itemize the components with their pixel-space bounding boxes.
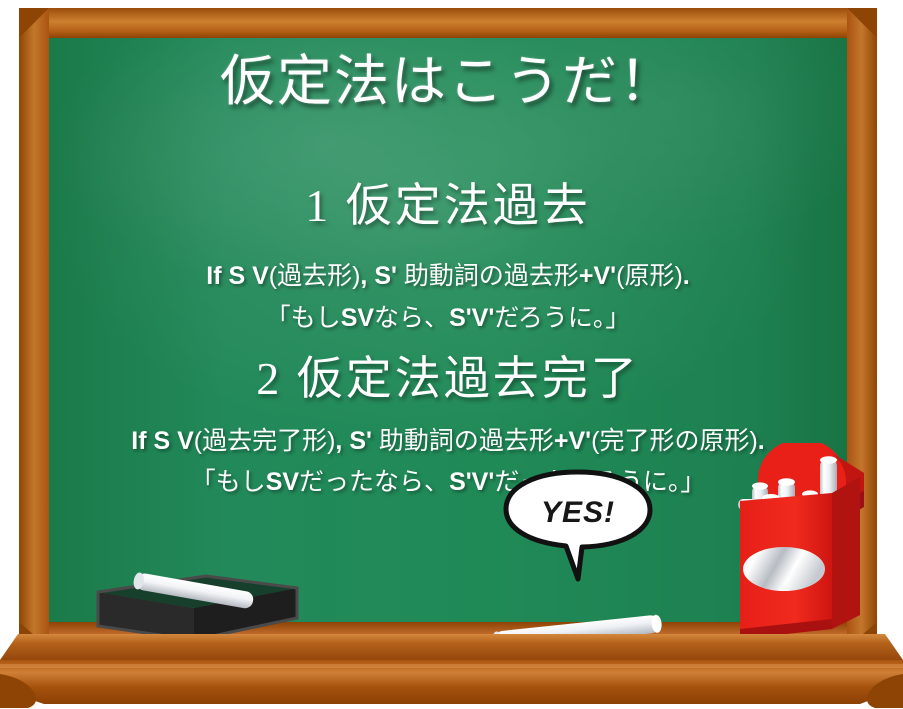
- formula-en-lead: If S V: [206, 262, 269, 290]
- chalkbox-side: [832, 477, 860, 629]
- chalkbox-oval-logo: [743, 547, 825, 591]
- blackboard-eraser: [88, 568, 303, 643]
- formula-jp-1: (過去完了形): [194, 427, 336, 455]
- board-title: 仮定法はこうだ！: [49, 54, 847, 109]
- formula-mid: , S': [335, 427, 378, 455]
- gloss-close: だろうに。」: [494, 304, 630, 332]
- formula-jp-1: (過去形): [269, 262, 361, 290]
- red-chalk-box: [716, 443, 886, 648]
- gloss-spv: S'V': [449, 468, 494, 496]
- section-1-formula: If S V(過去形), S' 助動詞の過去形+V'(原形).: [49, 264, 847, 289]
- section-1-heading: 1 仮定法過去: [49, 183, 847, 229]
- chalk-ledge: [0, 634, 903, 709]
- formula-jp-3: (原形): [616, 262, 683, 290]
- chalkboard-scene: 仮定法はこうだ！ 1 仮定法過去 If S V(過去形), S' 助動詞の過去形…: [0, 0, 903, 709]
- gloss-open: 「もし: [191, 468, 266, 496]
- gloss-mid: なら、: [374, 304, 449, 332]
- formula-jp-2: 助動詞の過去形: [404, 262, 579, 290]
- formula-mid: , S': [360, 262, 403, 290]
- gloss-sv: SV: [341, 304, 374, 332]
- formula-jp-2: 助動詞の過去形: [379, 427, 554, 455]
- gloss-sv: SV: [266, 468, 299, 496]
- formula-plus-v: +V': [554, 427, 591, 455]
- speech-bubble-text: YES!: [541, 496, 615, 529]
- speech-bubble: YES!: [498, 468, 658, 583]
- ledge-highlight: [0, 664, 903, 668]
- formula-en-lead: If S V: [131, 427, 194, 455]
- section-1-gloss: 「もしSVなら、S'V'だろうに。」: [49, 306, 847, 331]
- section-2-heading: 2 仮定法過去完了: [49, 356, 847, 402]
- ledge-top-surface: [0, 634, 903, 660]
- formula-plus-v: +V': [579, 262, 616, 290]
- gloss-open: 「もし: [266, 304, 341, 332]
- gloss-spv: S'V': [449, 304, 494, 332]
- gloss-mid: だったなら、: [299, 468, 449, 496]
- formula-period: .: [683, 262, 690, 290]
